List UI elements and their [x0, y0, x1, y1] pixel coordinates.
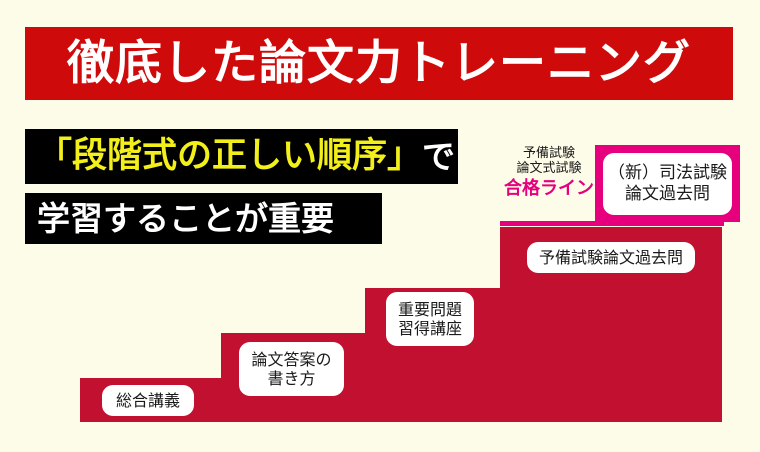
step-label-2: 論文答案の 書き方: [239, 342, 344, 396]
step-label-1-line1: 総合講義: [116, 391, 180, 410]
headline-secondary-text: 学習することが重要: [37, 202, 334, 235]
headline-bar-primary: 「段階式の正しい順序」で: [25, 129, 458, 184]
infographic-canvas: 徹底した論文力トレーニング 「段階式の正しい順序」で 学習することが重要 予備試…: [0, 0, 760, 452]
passline-note-line1: 予備試験: [503, 146, 595, 161]
passline-note-line2: 論文式試験: [503, 161, 595, 176]
headline-suffix: で: [422, 140, 455, 173]
passline-annotation: 予備試験 論文式試験 合格ライン: [503, 146, 595, 199]
step-label-3-line2: 習得講座: [398, 319, 462, 338]
step-label-3: 重要問題 習得講座: [386, 292, 474, 346]
title-banner: 徹底した論文力トレーニング: [25, 27, 733, 100]
step-label-3-line1: 重要問題: [398, 300, 462, 319]
step-label-1: 総合講義: [102, 385, 194, 416]
headline-bar-secondary: 学習することが重要: [25, 193, 382, 244]
step-label-2-line2: 書き方: [267, 369, 315, 388]
exam-goal-line1: （新）司法試験: [608, 163, 727, 184]
passline-label: 合格ライン: [503, 178, 595, 199]
exam-goal-box: （新）司法試験 論文過去問: [595, 145, 740, 222]
headline-emphasis: 「段階式の正しい順序」: [37, 139, 422, 174]
step-label-4: 予備試験論文過去問: [527, 242, 695, 273]
page-title: 徹底した論文力トレーニング: [67, 40, 691, 87]
step-label-4-line1: 予備試験論文過去問: [539, 248, 683, 267]
exam-goal-box-inner: （新）司法試験 論文過去問: [603, 153, 732, 215]
exam-goal-line2: 論文過去問: [625, 184, 710, 205]
step-label-2-line1: 論文答案の: [251, 350, 331, 369]
passline-rule: [500, 221, 724, 226]
